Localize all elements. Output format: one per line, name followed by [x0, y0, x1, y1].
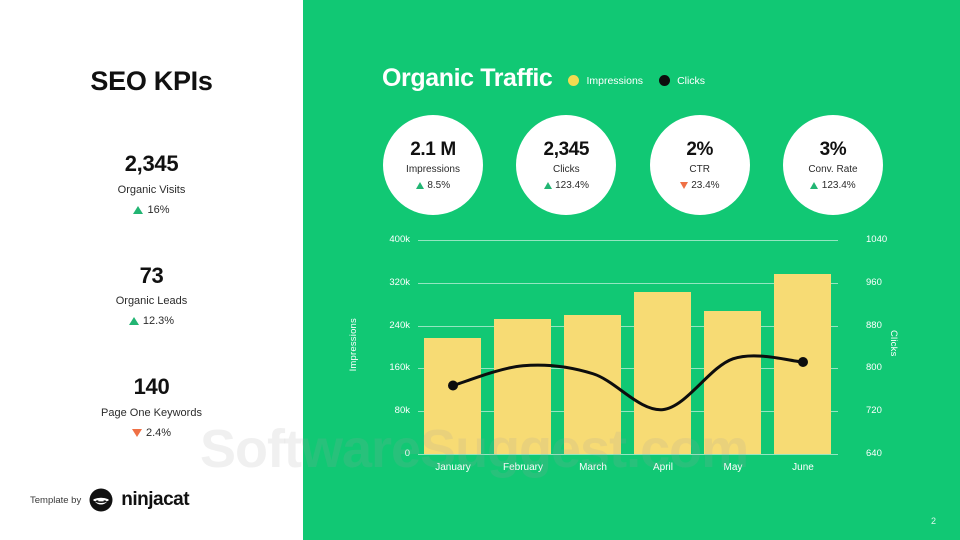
kpi-card-page-one-keywords: 140 Page One Keywords 2.4%	[0, 373, 303, 439]
legend-item-clicks[interactable]: Clicks	[659, 75, 705, 87]
kpi-label: Organic Visits	[0, 184, 303, 197]
panel-title: Organic Traffic	[382, 64, 552, 93]
footer-label: Template by	[30, 495, 81, 506]
trend-down-icon	[132, 429, 142, 437]
legend-dot-icon	[659, 75, 670, 86]
plot-area	[418, 240, 838, 454]
line-endpoint-start	[448, 381, 458, 391]
y-axis-right-ticks: 1040960880800720640	[848, 240, 908, 460]
y-tick-label: 320k	[389, 277, 410, 288]
ninjacat-icon	[89, 488, 113, 512]
legend-label: Clicks	[677, 75, 705, 87]
y2-tick-label: 960	[866, 277, 882, 288]
y-tick-label: 80k	[395, 405, 410, 416]
circle-kpi-label: Conv. Rate	[808, 164, 857, 175]
kpi-delta: 2.4%	[0, 427, 303, 439]
kpi-label: Organic Leads	[0, 295, 303, 308]
slide-root: SEO KPIs 2,345 Organic Visits 16% 73 Org…	[0, 0, 960, 540]
circle-kpi-delta: 8.5%	[416, 180, 450, 191]
circle-kpi-value: 2%	[686, 139, 713, 161]
circle-kpi-delta-value: 123.4%	[822, 180, 856, 191]
circle-kpi-value: 2.1 M	[410, 139, 456, 161]
left-panel: SEO KPIs 2,345 Organic Visits 16% 73 Org…	[0, 0, 303, 540]
circle-kpi-delta-value: 23.4%	[691, 180, 719, 191]
kpi-card-organic-leads: 73 Organic Leads 12.3%	[0, 262, 303, 328]
circle-kpi-delta: 123.4%	[544, 180, 589, 191]
circle-kpi-label: Clicks	[553, 164, 580, 175]
kpi-delta-value: 16%	[147, 204, 169, 216]
kpi-value: 73	[0, 262, 303, 290]
y2-tick-label: 1040	[866, 234, 887, 245]
circle-kpi-label: CTR	[689, 164, 710, 175]
circle-kpi-delta: 123.4%	[810, 180, 855, 191]
page-number: 2	[931, 516, 936, 526]
legend-dot-icon	[568, 75, 579, 86]
right-panel: Organic Traffic Impressions Clicks 2.1 M…	[303, 0, 960, 540]
circle-kpi-ctr: 2% CTR 23.4%	[650, 115, 750, 215]
y-tick-label: 240k	[389, 320, 410, 331]
circle-kpi-row: 2.1 M Impressions 8.5% 2,345 Clicks 123.…	[383, 115, 883, 217]
legend-label: Impressions	[586, 75, 643, 87]
kpi-card-organic-visits: 2,345 Organic Visits 16%	[0, 150, 303, 216]
y2-tick-label: 800	[866, 362, 882, 373]
trend-up-icon	[133, 206, 143, 214]
chart-legend: Impressions Clicks	[568, 75, 705, 87]
y2-tick-label: 880	[866, 320, 882, 331]
circle-kpi-value: 3%	[820, 139, 847, 161]
organic-traffic-chart: Impressions Clicks 400k320k240k160k80k0 …	[303, 240, 960, 500]
kpi-value: 2,345	[0, 150, 303, 178]
kpi-delta-value: 2.4%	[146, 427, 171, 439]
kpi-label: Page One Keywords	[0, 407, 303, 420]
trend-up-icon	[810, 182, 818, 189]
y2-tick-label: 640	[866, 448, 882, 459]
x-tick-label: June	[768, 462, 838, 473]
x-tick-label: April	[628, 462, 698, 473]
y-tick-label: 160k	[389, 362, 410, 373]
kpi-delta: 12.3%	[0, 315, 303, 327]
page-title: SEO KPIs	[0, 66, 303, 97]
circle-kpi-delta-value: 8.5%	[427, 180, 450, 191]
circle-kpi-clicks: 2,345 Clicks 123.4%	[516, 115, 616, 215]
x-tick-label: January	[418, 462, 488, 473]
trend-up-icon	[544, 182, 552, 189]
x-tick-label: May	[698, 462, 768, 473]
footer-brand: ninjacat	[121, 489, 189, 511]
kpi-delta-value: 12.3%	[143, 315, 174, 327]
circle-kpi-impressions: 2.1 M Impressions 8.5%	[383, 115, 483, 215]
line-series-clicks	[418, 240, 838, 454]
footer-attribution: Template by ninjacat	[30, 488, 189, 512]
trend-up-icon	[416, 182, 424, 189]
circle-kpi-value: 2,345	[544, 139, 590, 161]
x-axis-labels: JanuaryFebruaryMarchAprilMayJune	[418, 462, 838, 473]
kpi-delta: 16%	[0, 204, 303, 216]
y-tick-label: 400k	[389, 234, 410, 245]
circle-kpi-label: Impressions	[406, 164, 460, 175]
x-tick-label: February	[488, 462, 558, 473]
y-axis-title-left: Impressions	[348, 318, 359, 371]
gridline	[418, 454, 838, 455]
y-axis-left-ticks: 400k320k240k160k80k0	[363, 240, 418, 460]
line-endpoint-end	[798, 357, 808, 367]
kpi-value: 140	[0, 373, 303, 401]
trend-up-icon	[129, 317, 139, 325]
trend-down-icon	[680, 182, 688, 189]
y2-tick-label: 720	[866, 405, 882, 416]
kpi-list: 2,345 Organic Visits 16% 73 Organic Lead…	[0, 150, 303, 485]
circle-kpi-conv-rate: 3% Conv. Rate 123.4%	[783, 115, 883, 215]
y-tick-label: 0	[405, 448, 410, 459]
panel-header: Organic Traffic Impressions Clicks	[382, 64, 705, 93]
circle-kpi-delta-value: 123.4%	[555, 180, 589, 191]
x-tick-label: March	[558, 462, 628, 473]
circle-kpi-delta: 23.4%	[680, 180, 720, 191]
clicks-line-path	[453, 356, 803, 410]
legend-item-impressions[interactable]: Impressions	[568, 75, 643, 87]
